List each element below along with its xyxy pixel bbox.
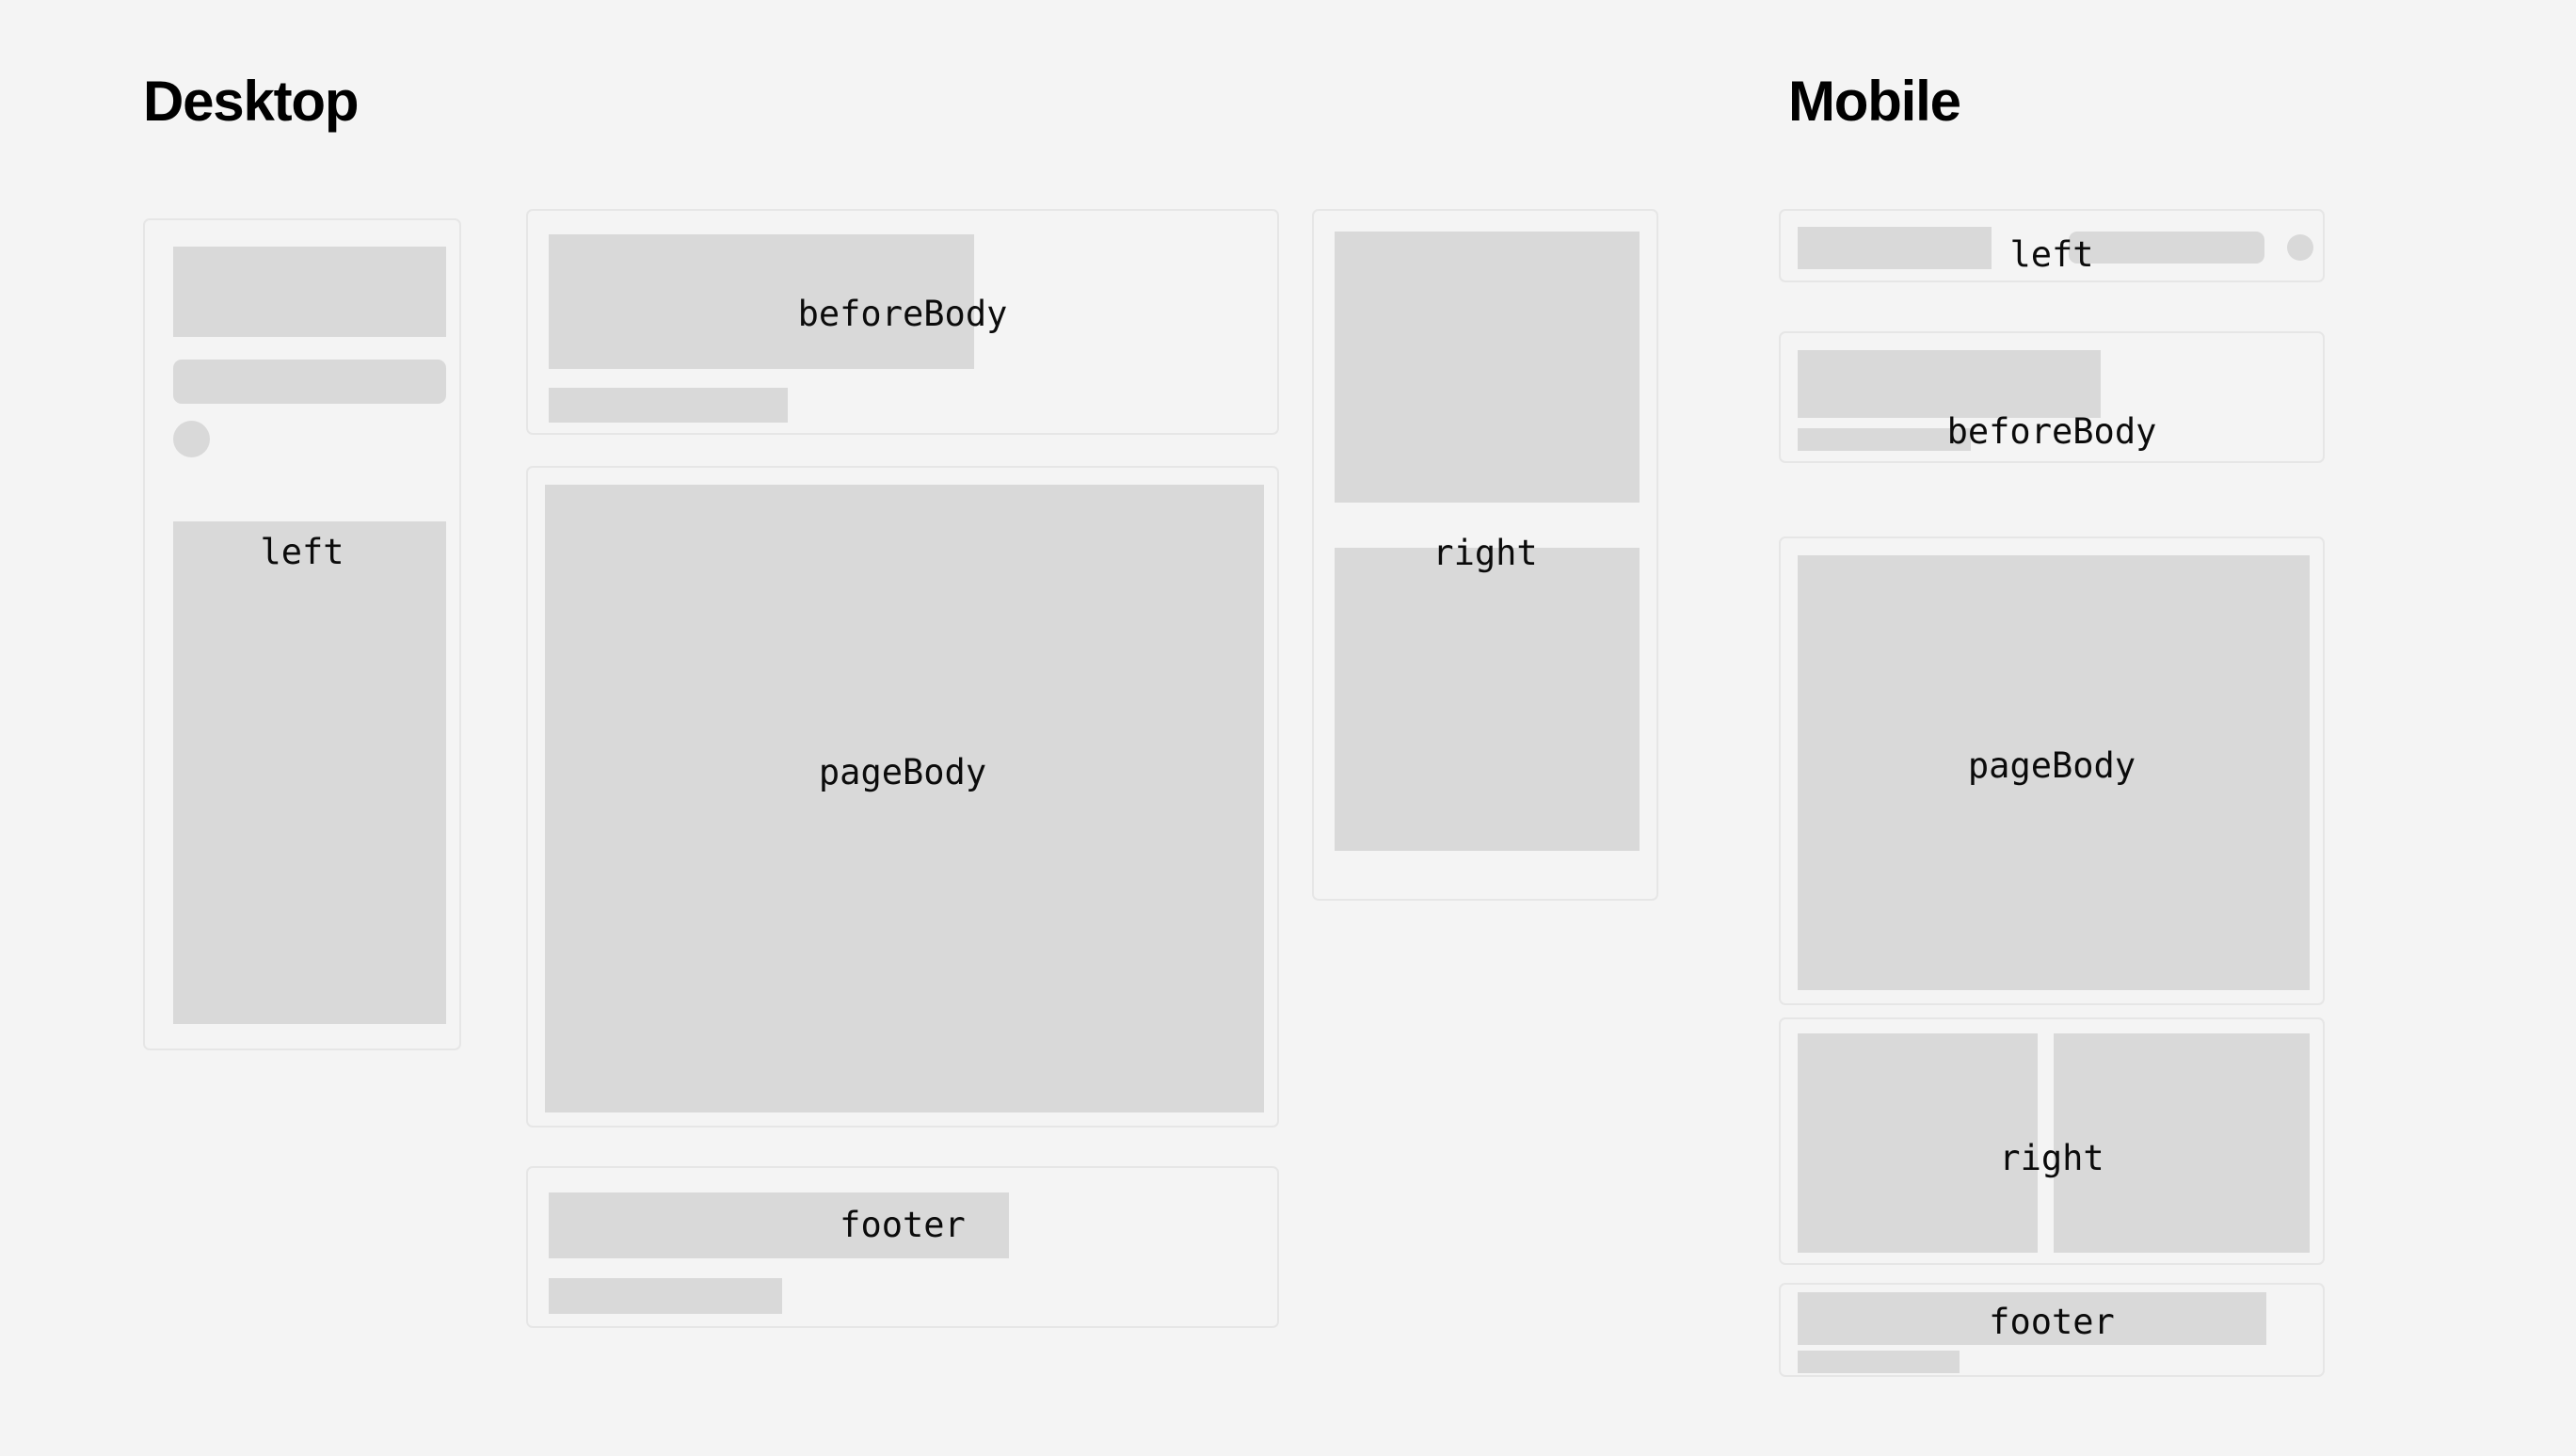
mobile-footer-region-card[interactable] [1779, 1283, 2325, 1377]
mobile-left-region-card[interactable] [1779, 209, 2325, 282]
desktop-beforebody-primary-block [549, 234, 974, 369]
desktop-beforebody-secondary-block [549, 388, 788, 423]
desktop-left-sidebar-body-block [173, 521, 446, 1024]
mobile-left-pill-block [2069, 232, 2264, 264]
desktop-left-header-block [173, 247, 446, 337]
desktop-footer-primary-block [549, 1192, 1009, 1258]
mobile-right-left-column-block [1798, 1033, 2038, 1253]
mobile-right-right-column-block [2054, 1033, 2310, 1253]
desktop-left-subheader-block [173, 360, 446, 404]
mobile-left-header-block [1798, 227, 1992, 269]
desktop-footer-secondary-block [549, 1278, 782, 1314]
mobile-pagebody-content-block [1798, 555, 2310, 990]
desktop-right-lower-block [1335, 548, 1640, 851]
desktop-pagebody-region-card[interactable] [526, 466, 1279, 1128]
mobile-right-region-card[interactable] [1779, 1017, 2325, 1265]
desktop-right-region-card[interactable] [1312, 209, 1658, 901]
mobile-left-avatar-dot [2287, 234, 2313, 261]
mobile-beforebody-region-card[interactable] [1779, 331, 2325, 463]
mobile-section-title: Mobile [1788, 73, 1960, 130]
desktop-left-region-card[interactable] [143, 218, 461, 1050]
desktop-pagebody-content-block [545, 485, 1264, 1112]
mobile-pagebody-region-card[interactable] [1779, 536, 2325, 1005]
desktop-right-upper-block [1335, 232, 1640, 503]
desktop-section-title: Desktop [143, 73, 358, 130]
desktop-footer-region-card[interactable] [526, 1166, 1279, 1328]
mobile-footer-primary-block [1798, 1292, 2266, 1345]
mobile-footer-secondary-block [1798, 1351, 1960, 1373]
desktop-beforebody-region-card[interactable] [526, 209, 1279, 435]
layout-preview-canvas: Desktop left beforeBody pageBody right f… [0, 0, 2576, 1456]
mobile-beforebody-secondary-block [1798, 428, 1971, 451]
mobile-beforebody-primary-block [1798, 350, 2101, 418]
desktop-left-avatar-dot [173, 421, 210, 457]
